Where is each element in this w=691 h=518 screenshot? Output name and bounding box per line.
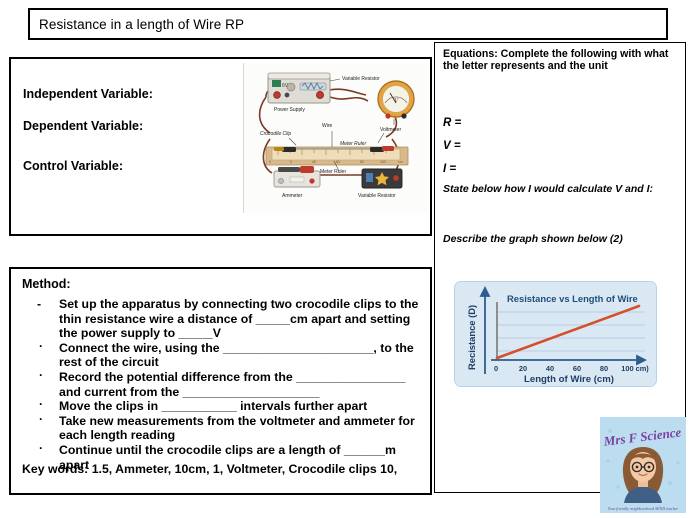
method-step: · Connect the wire, using the __________… [31, 341, 423, 370]
step-marker: · [39, 368, 43, 383]
method-step: · Move the clips in ___________ interval… [31, 399, 423, 414]
svg-text:20: 20 [519, 364, 527, 373]
step-text: Set up the apparatus by connecting two c… [59, 297, 418, 340]
label-meter-ruler-bottom: Meter Ruler [320, 169, 346, 175]
svg-text:100: 100 [380, 160, 386, 164]
describe-graph-prompt: Describe the graph shown below (2) [443, 233, 679, 245]
svg-text:80: 80 [360, 160, 364, 164]
svg-text:0: 0 [494, 364, 498, 373]
equation-i: I = [443, 163, 456, 175]
svg-text:80: 80 [600, 364, 608, 373]
step-text: Move the clips in ___________ intervals … [59, 399, 367, 413]
step-marker: · [39, 441, 43, 456]
method-step-list: - Set up the apparatus by connecting two… [31, 297, 423, 472]
step-marker: - [37, 297, 41, 312]
label-wire: Wire [322, 123, 332, 129]
svg-text:60: 60 [336, 160, 340, 164]
avatar [623, 447, 663, 503]
step-marker: · [39, 397, 43, 412]
step-text: Connect the wire, using the ____________… [59, 341, 414, 370]
step-marker: · [39, 412, 43, 427]
label-crocodile-clip: Crocodile Clip [260, 131, 291, 137]
page-title: Resistance in a length of Wire RP [30, 17, 244, 32]
chart-y-axis-label: Recistance (D) [466, 305, 477, 370]
step-text: Take new measurements from the voltmeter… [59, 414, 415, 443]
svg-text:0: 0 [290, 160, 292, 164]
svg-text:0: 0 [269, 160, 271, 164]
worksheet-title-box: Resistance in a length of Wire RP [28, 8, 668, 40]
svg-text:60: 60 [573, 364, 581, 373]
independent-variable-label: Independent Variable: [23, 87, 153, 101]
equation-v: V = [443, 140, 461, 152]
equation-r: R = [443, 117, 461, 129]
circuit-diagram-image: 6V V [243, 63, 427, 213]
equations-heading: Equations: Complete the following with w… [443, 48, 675, 73]
label-power-supply: Power Supply [274, 107, 305, 113]
svg-text:cm: cm [398, 160, 403, 164]
label-meter-ruler-right: Meter Ruler [340, 141, 366, 147]
ruler-tick-labels: 0 0 40 60 80 100 cm [269, 160, 403, 164]
logo-tagline: Your friendly neighbourhood SEND teacher [608, 506, 679, 511]
method-heading: Method: [22, 277, 71, 291]
step-text: Record the potential difference from the… [59, 370, 406, 399]
svg-text:40: 40 [546, 364, 554, 373]
label-ammeter: Ammeter [282, 193, 303, 199]
svg-text:100 cm): 100 cm) [621, 364, 649, 373]
brand-logo: Mrs F Science [600, 417, 686, 513]
state-calculation-prompt: State below how I would calculate V and … [443, 183, 679, 195]
chart-title: Resistance vs Length of Wire [507, 293, 638, 304]
dependent-variable-label: Dependent Variable: [23, 119, 143, 133]
control-variable-label: Control Variable: [23, 159, 123, 173]
method-step: · Take new measurements from the voltmet… [31, 414, 423, 443]
chart-x-axis-label: Length of Wire (cm) [524, 374, 614, 385]
variables-box: Independent Variable: Dependent Variable… [9, 57, 432, 236]
key-words-line: Key words: 1.5, Ammeter, 10cm, 1, Voltme… [22, 462, 422, 476]
label-variable-resistor-bottom: Variable Resistor [358, 193, 396, 199]
step-marker: · [39, 339, 43, 354]
method-step: · Record the potential difference from t… [31, 370, 423, 399]
resistance-vs-length-chart: Resistance vs Length of Wire 0 20 40 60 … [454, 281, 657, 387]
label-voltmeter: Voltmeter [380, 127, 401, 133]
method-box: Method: - Set up the apparatus by connec… [9, 267, 432, 495]
worksheet-page: Resistance in a length of Wire RP Indepe… [0, 0, 691, 518]
label-variable-resistor-top: Variable Resistor [342, 76, 380, 82]
method-step: - Set up the apparatus by connecting two… [31, 297, 423, 341]
svg-text:40: 40 [312, 160, 316, 164]
